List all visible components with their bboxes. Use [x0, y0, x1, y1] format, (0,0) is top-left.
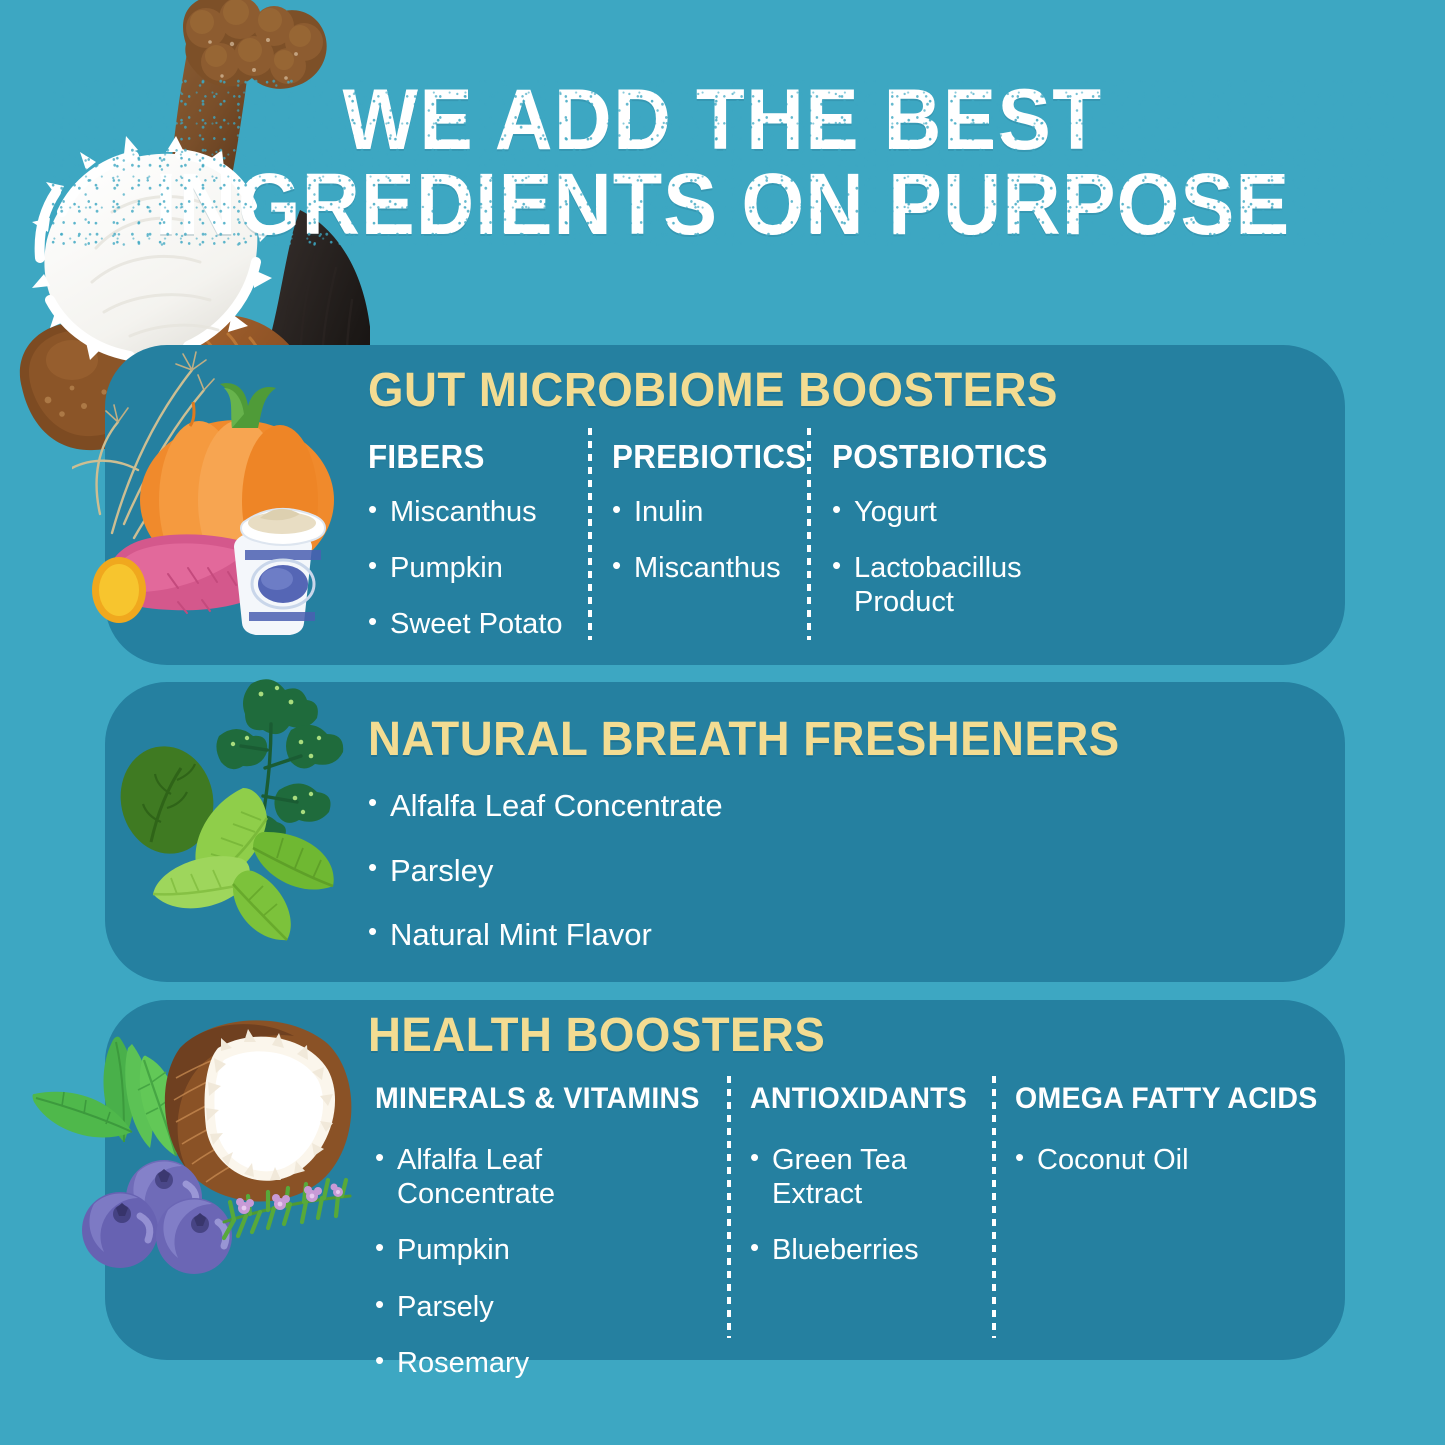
list-item: Parsley: [368, 853, 888, 890]
list-item: Alfalfa Leaf Concentrate: [368, 788, 888, 825]
ingredient-list-minerals-vitamins: Alfalfa Leaf Concentrate Pumpkin Parsely…: [375, 1143, 705, 1402]
illustration-pumpkin-sweet-potato-yogurt: [72, 318, 372, 648]
page-title-line-2: INGREDIENTS ON PURPOSE: [51, 162, 1395, 247]
list-item: Miscanthus: [368, 495, 583, 529]
ingredient-list-fibers: Miscanthus Pumpkin Sweet Potato: [368, 495, 583, 664]
page-title-line-1: WE ADD THE BEST: [51, 78, 1395, 162]
list-item: Natural Mint Flavor: [368, 917, 888, 954]
list-item: Lactobacillus Product: [832, 551, 1032, 619]
page-title: WE ADD THE BEST INGREDIENTS ON PURPOSE: [51, 78, 1395, 248]
list-item: Rosemary: [375, 1346, 705, 1380]
column-heading-minerals-vitamins: MINERALS & VITAMINS: [375, 1082, 700, 1116]
list-item: Yogurt: [832, 495, 1032, 529]
list-item: Sweet Potato: [368, 607, 583, 641]
column-heading-antioxidants: ANTIOXIDANTS: [750, 1082, 967, 1116]
column-heading-fibers: FIBERS: [368, 438, 485, 476]
ingredient-list-antioxidants: Green Tea Extract Blueberries: [750, 1143, 950, 1290]
column-heading-prebiotics: PREBIOTICS: [612, 438, 806, 476]
ingredient-list-breath-fresheners: Alfalfa Leaf Concentrate Parsley Natural…: [368, 788, 888, 982]
list-item: Pumpkin: [375, 1233, 705, 1267]
column-divider: [727, 1076, 731, 1338]
ingredient-list-postbiotics: Yogurt Lactobacillus Product: [832, 495, 1032, 642]
list-item: Alfalfa Leaf Concentrate: [375, 1143, 705, 1211]
list-item: Miscanthus: [612, 551, 802, 585]
column-heading-postbiotics: POSTBIOTICS: [832, 438, 1048, 476]
column-divider: [992, 1076, 996, 1338]
list-item: Blueberries: [750, 1233, 950, 1267]
list-item: Green Tea Extract: [750, 1143, 950, 1211]
column-divider: [588, 428, 592, 640]
column-heading-omega-fatty-acids: OMEGA FATTY ACIDS: [1015, 1082, 1318, 1116]
section-title-natural-breath-fresheners: NATURAL BREATH FRESHENERS: [368, 712, 1120, 767]
illustration-alfalfa-parsley-mint: [95, 672, 385, 962]
ingredient-list-omega-fatty-acids: Coconut Oil: [1015, 1143, 1235, 1199]
list-item: Coconut Oil: [1015, 1143, 1235, 1177]
section-title-health-boosters: HEALTH BOOSTERS: [368, 1008, 825, 1063]
column-divider: [807, 428, 811, 640]
list-item: Pumpkin: [368, 551, 583, 585]
list-item: Parsely: [375, 1290, 705, 1324]
ingredient-list-prebiotics: Inulin Miscanthus: [612, 495, 802, 607]
section-title-gut-microbiome: GUT MICROBIOME BOOSTERS: [368, 363, 1058, 418]
list-item: Inulin: [612, 495, 802, 529]
illustration-coconut-blueberries-greentea-rosemary: [28, 1008, 358, 1298]
